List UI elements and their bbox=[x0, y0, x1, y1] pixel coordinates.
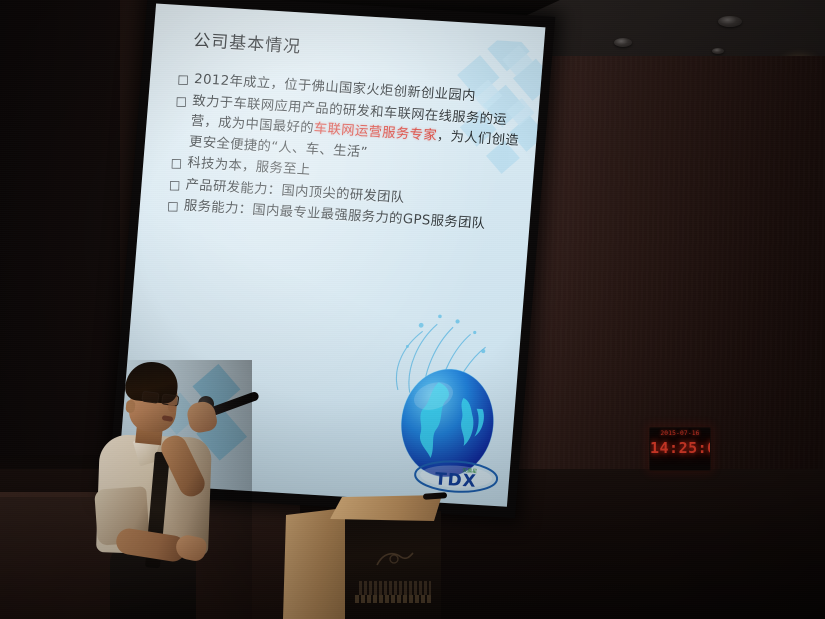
lectern-side-panel bbox=[283, 507, 353, 619]
lectern-microphone-icon bbox=[423, 492, 447, 500]
bullet-marker-5: □ bbox=[162, 196, 185, 216]
led-clock: 2015-07-16 14:25:09 bbox=[649, 427, 711, 471]
line-b: 团队 bbox=[457, 215, 486, 232]
lectern bbox=[283, 495, 451, 619]
downlight-3-icon bbox=[712, 48, 724, 54]
svg-text:天盾星: 天盾星 bbox=[462, 467, 478, 475]
lectern-text-line-2 bbox=[355, 595, 433, 603]
tdx-logo-icon: TDX 天盾星 bbox=[412, 457, 501, 496]
clock-date: 2015-07-16 bbox=[650, 430, 710, 438]
bullet-marker-4: □ bbox=[163, 174, 186, 194]
photo-scene: TDX 天盾星 公司基本情况 □ 2012年成立，位于佛山国家火炬创新创业园内 … bbox=[0, 0, 825, 619]
clock-time: 14:25:09 bbox=[650, 438, 710, 458]
downlight-1-icon bbox=[614, 38, 632, 47]
downlight-2-icon bbox=[718, 16, 742, 27]
bullet-marker-3: □ bbox=[165, 153, 188, 173]
slide-body: □ 2012年成立，位于佛山国家火炬创新创业园内 □ 致力于车联网应用产品的研发… bbox=[161, 69, 524, 239]
presenter bbox=[92, 360, 252, 619]
slide-title: 公司基本情况 bbox=[192, 26, 302, 58]
venue-logo-icon bbox=[371, 547, 417, 573]
highlight-text: 车联网运营服务专家 bbox=[313, 121, 437, 143]
bullet-marker-1: □ bbox=[172, 69, 195, 89]
lectern-text-line-1 bbox=[359, 581, 431, 595]
bullet-marker-2: □ bbox=[170, 91, 193, 111]
